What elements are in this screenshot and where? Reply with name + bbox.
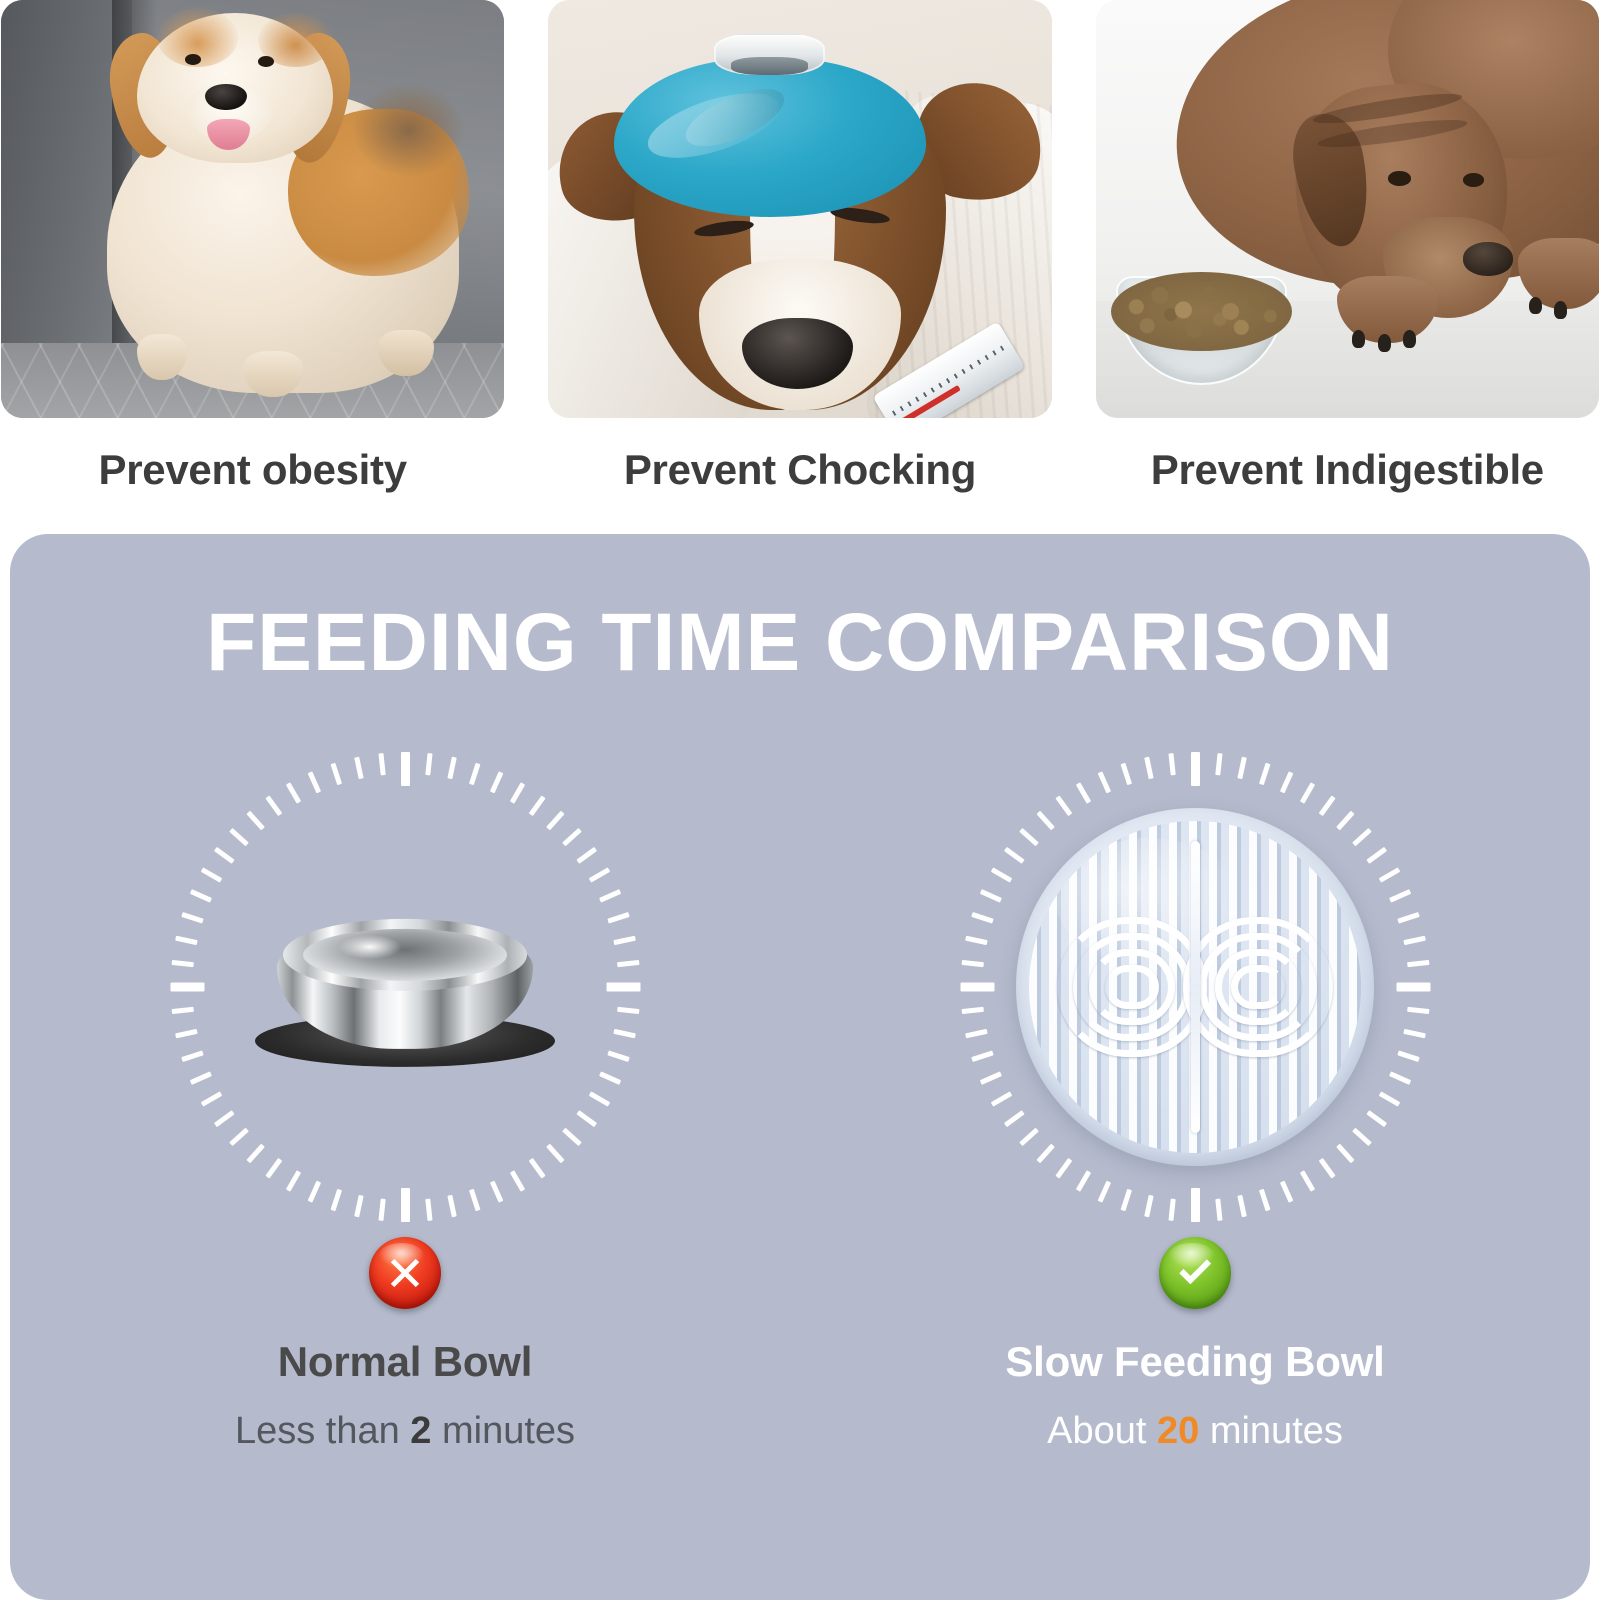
bowl-highlight	[339, 935, 401, 959]
time-suffix: minutes	[1199, 1410, 1343, 1452]
clock-tick-minor	[189, 1071, 211, 1085]
clock-tick-minor	[1318, 1158, 1335, 1179]
clock-tick-minor	[576, 847, 597, 864]
clock-tick-minor	[965, 936, 988, 945]
clock-tick-minor	[265, 795, 282, 816]
clock-tick-minor	[509, 1170, 524, 1192]
clock-tick-minor	[175, 1029, 198, 1038]
clock-tick-minor	[990, 1091, 1012, 1106]
clock-tick-minor	[307, 1181, 321, 1203]
time-prefix: Less than	[235, 1410, 410, 1452]
clock-tick-minor	[528, 795, 545, 816]
clock-tick-minor	[1215, 1199, 1222, 1221]
clock-tick-minor	[1097, 1181, 1111, 1203]
clock-tick-minor	[1120, 1189, 1132, 1211]
normal-bowl-name: Normal Bowl	[278, 1338, 533, 1386]
clock-tick-minor	[617, 960, 639, 967]
clock-tick-major	[1396, 983, 1430, 992]
slow-feeding-bowl-time: About 20 minutes	[1047, 1410, 1343, 1453]
clock-tick-minor	[1403, 936, 1426, 945]
clock-tick-minor	[971, 912, 993, 924]
clock-tick-minor	[425, 1199, 432, 1221]
clock-tick-minor	[213, 1110, 234, 1127]
clock-tick-minor	[468, 763, 480, 785]
clock-tick-minor	[1003, 847, 1024, 864]
clock-tick-minor	[1378, 867, 1400, 882]
clock-tick-minor	[354, 1195, 363, 1218]
dog-claw	[1352, 330, 1365, 348]
clock-tick-minor	[1144, 1195, 1153, 1218]
clock-tick-minor	[1237, 757, 1246, 780]
dog-claw	[1378, 334, 1391, 352]
clock-tick-minor	[1237, 1195, 1246, 1218]
clock-tick-minor	[1389, 1071, 1411, 1085]
clock-tick-minor	[965, 1029, 988, 1038]
feeder-center-divider	[1191, 841, 1200, 1133]
feeder-arc	[1105, 965, 1159, 1009]
page-title: FEEDING TIME COMPARISON	[10, 596, 1590, 690]
check-icon	[1159, 1237, 1231, 1309]
clock-tick-minor	[378, 1199, 385, 1221]
clock-dial-normal	[170, 752, 640, 1222]
dog-claw	[1529, 297, 1542, 315]
top-photo-strip	[0, 0, 1600, 418]
dog-nose	[1463, 242, 1513, 275]
clock-tick-minor	[378, 753, 385, 775]
time-prefix: About	[1047, 1410, 1157, 1452]
clock-tick-minor	[200, 1091, 222, 1106]
clock-tick-minor	[468, 1189, 480, 1211]
clock-tick-minor	[1003, 1110, 1024, 1127]
clock-tick-minor	[971, 1050, 993, 1062]
clock-tick-minor	[1366, 847, 1387, 864]
ice-pack-icon	[614, 59, 926, 218]
clock-tick-minor	[213, 847, 234, 864]
ice-pack-fold	[679, 77, 793, 158]
normal-bowl-image	[255, 919, 555, 1067]
clock-tick-minor	[189, 889, 211, 903]
clock-tick-minor	[546, 811, 564, 831]
clock-tick-minor	[1397, 912, 1419, 924]
clock-tick-minor	[1168, 1199, 1175, 1221]
clock-tick-minor	[171, 960, 193, 967]
comparison-row: Normal Bowl Less than 2 minutes	[10, 752, 1590, 1453]
clock-tick-minor	[961, 960, 983, 967]
clock-tick-minor	[246, 811, 264, 831]
clock-tick-minor	[171, 1007, 193, 1014]
clock-tick-minor	[354, 757, 363, 780]
clock-tick-minor	[607, 1050, 629, 1062]
clock-tick-minor	[181, 912, 203, 924]
clock-dial-slow	[960, 752, 1430, 1222]
clock-tick-minor	[613, 1029, 636, 1038]
clock-tick-minor	[1366, 1110, 1387, 1127]
clock-tick-minor	[425, 753, 432, 775]
clock-tick-minor	[175, 936, 198, 945]
clock-tick-minor	[330, 1189, 342, 1211]
clock-tick-minor	[607, 912, 629, 924]
clock-tick-minor	[990, 867, 1012, 882]
clock-tick-minor	[1258, 763, 1270, 785]
clock-tick-minor	[1378, 1091, 1400, 1106]
clock-tick-minor	[229, 1128, 249, 1146]
clock-tick-minor	[265, 1158, 282, 1179]
photo-caption-row: Prevent obesity Prevent Chocking Prevent…	[0, 424, 1600, 516]
clock-tick-minor	[617, 1007, 639, 1014]
clock-tick-minor	[285, 1170, 300, 1192]
clock-tick-minor	[961, 1007, 983, 1014]
clock-tick-minor	[181, 1050, 203, 1062]
time-suffix: minutes	[431, 1410, 575, 1452]
dog-claw	[1554, 301, 1567, 319]
clock-tick-minor	[1075, 782, 1090, 804]
clock-tick-minor	[1215, 753, 1222, 775]
comparison-panel: FEEDING TIME COMPARISON	[10, 534, 1590, 1600]
clock-tick-minor	[576, 1110, 597, 1127]
slow-feeding-bowl-name: Slow Feeding Bowl	[1005, 1338, 1384, 1386]
dog-eye	[1463, 173, 1484, 186]
photo-prevent-chocking	[548, 0, 1051, 418]
ice-pack-cap	[714, 33, 825, 75]
fur-patch	[353, 84, 464, 176]
clock-tick-minor	[1407, 960, 1429, 967]
clock-tick-minor	[1075, 1170, 1090, 1192]
clock-tick-minor	[1258, 1189, 1270, 1211]
caption-prevent-indigestible: Prevent Indigestible	[1096, 446, 1599, 494]
clock-tick-minor	[246, 1144, 264, 1164]
clock-tick-major	[401, 752, 410, 786]
clock-tick-minor	[447, 757, 456, 780]
badge-wrap-normal	[369, 1234, 441, 1312]
bowl-interior	[303, 929, 507, 981]
clock-tick-minor	[979, 889, 1001, 903]
clock-tick-minor	[1299, 782, 1314, 804]
clock-tick-minor	[979, 1071, 1001, 1085]
clock-tick-minor	[447, 1195, 456, 1218]
time-value: 20	[1157, 1410, 1199, 1452]
clock-tick-minor	[546, 1144, 564, 1164]
clock-tick-minor	[285, 782, 300, 804]
clock-tick-minor	[1055, 795, 1072, 816]
kibble-food	[1111, 272, 1292, 351]
clock-tick-minor	[1403, 1029, 1426, 1038]
clock-tick-minor	[562, 1128, 582, 1146]
clock-tick-minor	[509, 782, 524, 804]
clock-tick-major	[401, 1188, 410, 1222]
clock-tick-minor	[1389, 889, 1411, 903]
clock-tick-minor	[1279, 771, 1293, 793]
normal-bowl-time: Less than 2 minutes	[235, 1410, 575, 1453]
clock-tick-minor	[599, 1071, 621, 1085]
caption-prevent-chocking: Prevent Chocking	[548, 446, 1051, 494]
photo-prevent-obesity	[1, 0, 504, 418]
slow-feeding-bowl-image	[1016, 808, 1374, 1166]
clock-tick-minor	[200, 867, 222, 882]
clock-tick-minor	[599, 889, 621, 903]
clock-tick-minor	[613, 936, 636, 945]
caption-prevent-obesity: Prevent obesity	[1, 446, 504, 494]
clock-tick-minor	[1055, 1158, 1072, 1179]
clock-tick-minor	[1318, 795, 1335, 816]
clock-tick-minor	[1279, 1181, 1293, 1203]
comparison-column-slow-feeding-bowl: Slow Feeding Bowl About 20 minutes	[800, 752, 1590, 1453]
clock-tick-major	[606, 983, 640, 992]
clock-tick-major	[960, 983, 994, 992]
clock-tick-minor	[229, 828, 249, 846]
clock-tick-minor	[588, 867, 610, 882]
comparison-column-normal-bowl: Normal Bowl Less than 2 minutes	[10, 752, 800, 1453]
clock-tick-major	[1191, 752, 1200, 786]
dog-eye	[185, 54, 201, 65]
clock-tick-minor	[489, 1181, 503, 1203]
clock-tick-minor	[562, 828, 582, 846]
feeder-arc	[1231, 965, 1285, 1009]
feeder-inner	[1029, 821, 1361, 1153]
clock-tick-minor	[1168, 753, 1175, 775]
clock-tick-minor	[1299, 1170, 1314, 1192]
badge-wrap-slow	[1159, 1234, 1231, 1312]
clock-tick-minor	[1407, 1007, 1429, 1014]
dog-eye	[1388, 171, 1411, 185]
clock-tick-minor	[330, 763, 342, 785]
clock-tick-minor	[1120, 763, 1132, 785]
clock-tick-minor	[1097, 771, 1111, 793]
clock-tick-major	[1191, 1188, 1200, 1222]
clock-tick-minor	[307, 771, 321, 793]
clock-tick-minor	[588, 1091, 610, 1106]
clock-tick-minor	[489, 771, 503, 793]
clock-tick-minor	[1144, 757, 1153, 780]
clock-tick-minor	[528, 1158, 545, 1179]
time-value: 2	[410, 1410, 431, 1452]
dog-claw	[1403, 330, 1416, 348]
cross-icon	[369, 1237, 441, 1309]
clock-tick-minor	[1397, 1050, 1419, 1062]
photo-prevent-indigestible	[1096, 0, 1599, 418]
clock-tick-major	[170, 983, 204, 992]
